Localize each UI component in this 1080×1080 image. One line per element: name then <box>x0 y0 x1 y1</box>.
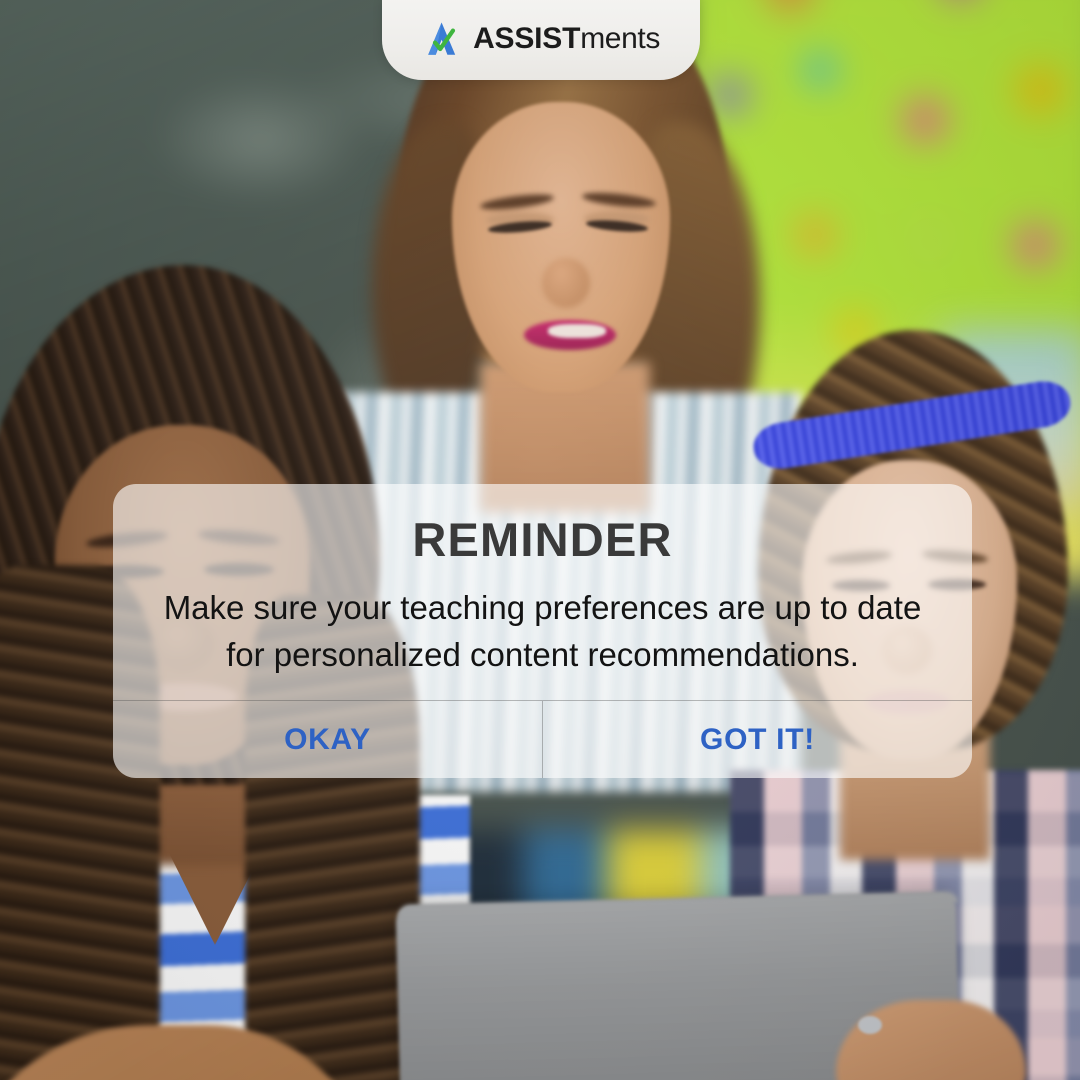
brand-name-light: ments <box>580 22 660 55</box>
ring <box>858 1016 882 1034</box>
dialog-body: REMINDER Make sure your teaching prefere… <box>113 484 972 700</box>
screenshot-canvas: ASSISTments REMINDER Make sure your teac… <box>0 0 1080 1080</box>
dialog-actions: OKAY GOT IT! <box>113 700 972 778</box>
got-it-button[interactable]: GOT IT! <box>543 701 972 778</box>
brand-wordmark: ASSISTments <box>473 24 660 54</box>
brand-logo-banner: ASSISTments <box>382 0 700 80</box>
reminder-dialog: REMINDER Make sure your teaching prefere… <box>113 484 972 778</box>
okay-button[interactable]: OKAY <box>113 701 542 778</box>
assistments-logo-icon <box>422 21 462 57</box>
brand-name-bold: ASSIST <box>473 22 580 55</box>
dialog-title: REMINDER <box>412 516 672 563</box>
dialog-message: Make sure your teaching preferences are … <box>147 585 938 679</box>
